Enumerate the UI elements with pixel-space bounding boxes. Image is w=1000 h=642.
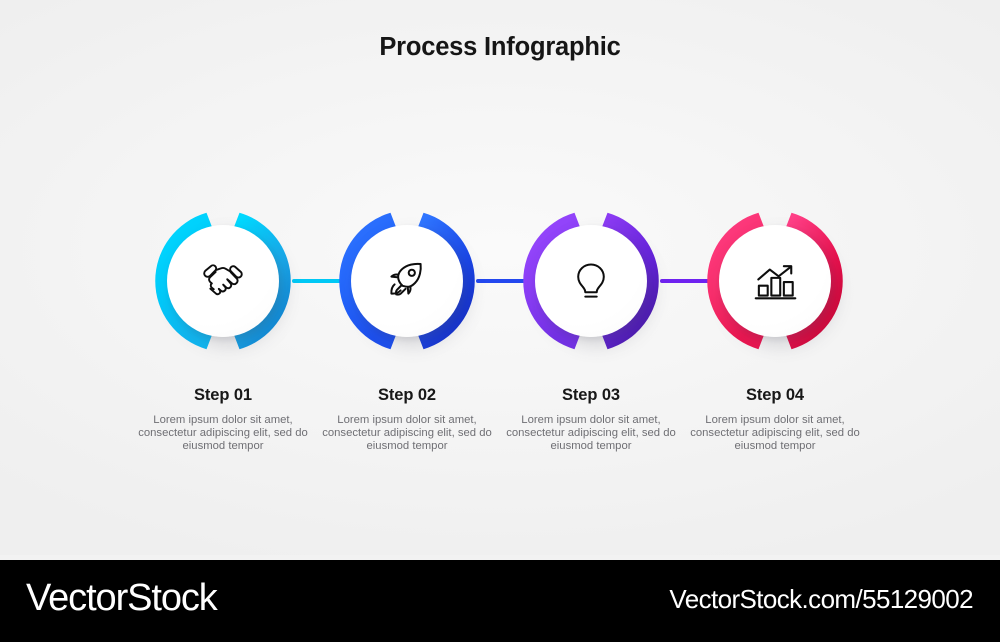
rocket-icon	[382, 258, 432, 304]
infographic-canvas: Process Infographic	[0, 0, 1000, 555]
step-label-4: Step 04	[675, 386, 875, 405]
step-body-4: Lorem ipsum dolor sit amet, consectetur …	[675, 414, 875, 454]
step-body-1: Lorem ipsum dolor sit amet, consectetur …	[123, 414, 323, 454]
step-label-1: Step 01	[123, 386, 323, 405]
step-disc-2	[351, 225, 463, 337]
step-disc-3	[535, 225, 647, 337]
lightbulb-icon	[566, 258, 616, 304]
step-caption-2: Step 02 Lorem ipsum dolor sit amet, cons…	[307, 386, 507, 454]
step-caption-1: Step 01 Lorem ipsum dolor sit amet, cons…	[123, 386, 323, 454]
step-disc-1	[167, 225, 279, 337]
step-node-2[interactable]	[332, 206, 482, 356]
step-node-3[interactable]	[516, 206, 666, 356]
step-body-2: Lorem ipsum dolor sit amet, consectetur …	[307, 414, 507, 454]
page-title: Process Infographic	[0, 33, 1000, 62]
step-body-3: Lorem ipsum dolor sit amet, consectetur …	[491, 414, 691, 454]
step-caption-4: Step 04 Lorem ipsum dolor sit amet, cons…	[675, 386, 875, 454]
step-label-3: Step 03	[491, 386, 691, 405]
watermark-bar: VectorStock VectorStock.com/55129002	[0, 560, 1000, 642]
handshake-icon	[198, 258, 248, 304]
bar-chart-growth-icon	[750, 258, 800, 304]
vectorstock-logo: VectorStock	[26, 577, 217, 620]
step-label-2: Step 02	[307, 386, 507, 405]
vectorstock-url: VectorStock.com/55129002	[669, 584, 973, 615]
step-disc-4	[719, 225, 831, 337]
step-caption-3: Step 03 Lorem ipsum dolor sit amet, cons…	[491, 386, 691, 454]
step-node-1[interactable]	[148, 206, 298, 356]
step-node-4[interactable]	[700, 206, 850, 356]
